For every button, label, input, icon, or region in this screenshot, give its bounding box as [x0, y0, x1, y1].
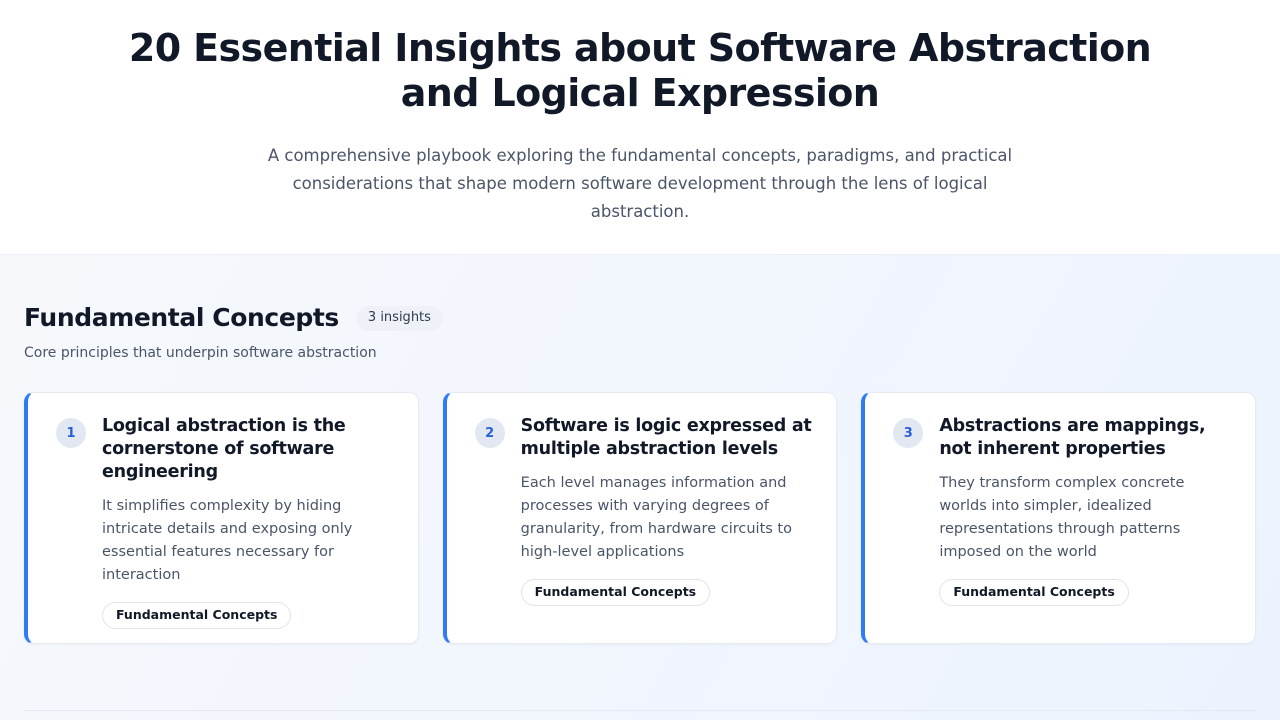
- insight-category-tag[interactable]: Fundamental Concepts: [102, 602, 291, 629]
- section-header: Fundamental Concepts 3 insights: [24, 303, 1256, 333]
- page-title: 20 Essential Insights about Software Abs…: [85, 26, 1195, 116]
- insight-card[interactable]: 2 Software is logic expressed at multipl…: [443, 392, 838, 644]
- insight-description: Each level manages information and proce…: [521, 472, 815, 564]
- insight-card-grid: 1 Logical abstraction is the cornerstone…: [24, 392, 1256, 644]
- insight-card[interactable]: 3 Abstractions are mappings, not inheren…: [861, 392, 1256, 644]
- insight-title: Abstractions are mappings, not inherent …: [939, 415, 1233, 461]
- insight-category-tag[interactable]: Fundamental Concepts: [939, 579, 1128, 606]
- section-title: Fundamental Concepts: [24, 303, 339, 333]
- insight-card-header: 2 Software is logic expressed at multipl…: [475, 415, 815, 606]
- insight-card-header: 1 Logical abstraction is the cornerstone…: [56, 415, 396, 629]
- page-subtitle: A comprehensive playbook exploring the f…: [255, 142, 1025, 226]
- insight-number-badge: 2: [475, 418, 505, 448]
- insight-number-badge: 3: [893, 418, 923, 448]
- insight-card-body: Logical abstraction is the cornerstone o…: [102, 415, 396, 629]
- insight-title: Logical abstraction is the cornerstone o…: [102, 415, 396, 484]
- insight-description: It simplifies complexity by hiding intri…: [102, 495, 396, 587]
- section-divider: [24, 710, 1256, 711]
- insight-card[interactable]: 1 Logical abstraction is the cornerstone…: [24, 392, 419, 644]
- insight-card-body: Abstractions are mappings, not inherent …: [939, 415, 1233, 606]
- insight-category-tag[interactable]: Fundamental Concepts: [521, 579, 710, 606]
- insight-card-header: 3 Abstractions are mappings, not inheren…: [893, 415, 1233, 606]
- insight-number-badge: 1: [56, 418, 86, 448]
- section-description: Core principles that underpin software a…: [24, 344, 1256, 363]
- page-header: 20 Essential Insights about Software Abs…: [0, 0, 1280, 255]
- insight-title: Software is logic expressed at multiple …: [521, 415, 815, 461]
- insight-count-badge: 3 insights: [356, 306, 443, 331]
- insight-description: They transform complex concrete worlds i…: [939, 472, 1233, 564]
- insight-card-body: Software is logic expressed at multiple …: [521, 415, 815, 606]
- insights-section: Fundamental Concepts 3 insights Core pri…: [0, 255, 1280, 720]
